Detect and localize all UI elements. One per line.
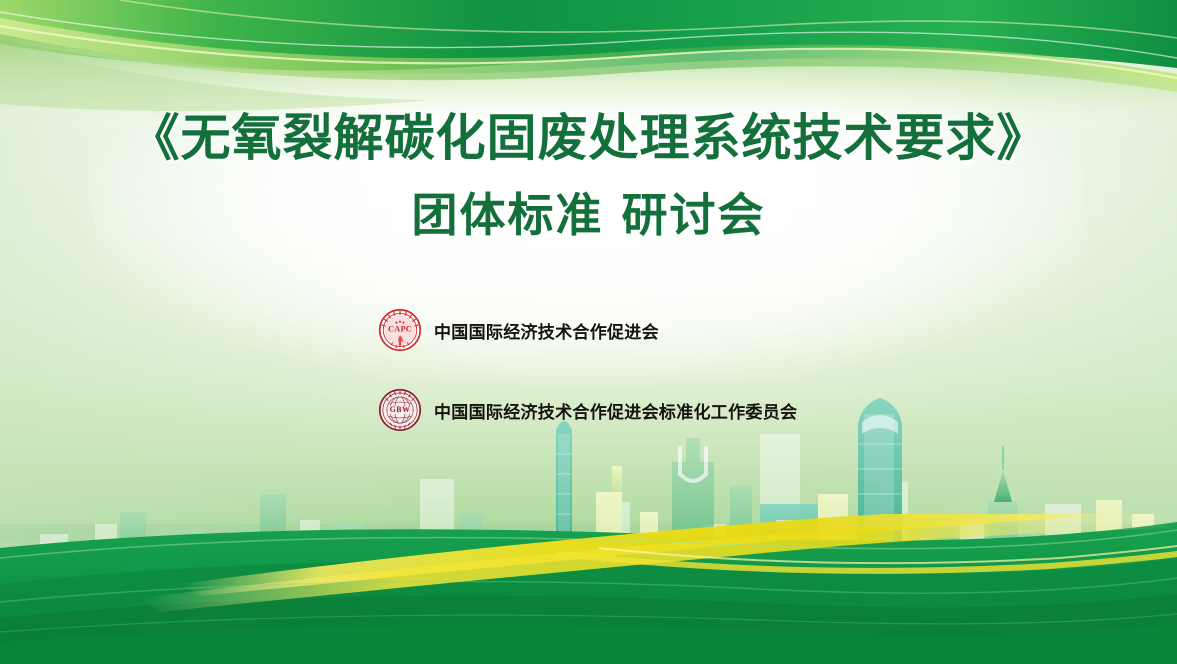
organization-row-gbw: GBW 中国国际经济技术合作促进会标准化工作委员会 — [378, 386, 797, 434]
title-block: 《无氧裂解碳化固废处理系统技术要求》 团体标准 研讨会 — [0, 108, 1177, 243]
gbw-seal-logo: GBW — [378, 388, 422, 432]
svg-text:CAPC: CAPC — [388, 324, 412, 333]
organization-list: CAPC 中国国际经济技术合作促进会 — [378, 306, 797, 434]
bottom-ribbon-decoration — [0, 514, 1177, 664]
organization-name-gbw: 中国国际经济技术合作促进会标准化工作委员会 — [434, 398, 797, 423]
bottom-swoosh-icon — [0, 514, 1177, 664]
capc-seal-logo: CAPC — [378, 308, 422, 352]
organization-row-capc: CAPC 中国国际经济技术合作促进会 — [378, 306, 797, 354]
page-subtitle: 团体标准 研讨会 — [0, 188, 1177, 243]
page-title: 《无氧裂解碳化固废处理系统技术要求》 — [0, 108, 1177, 168]
presentation-slide: 《无氧裂解碳化固废处理系统技术要求》 团体标准 研讨会 — [0, 0, 1177, 664]
organization-name-capc: 中国国际经济技术合作促进会 — [434, 318, 659, 343]
svg-text:GBW: GBW — [390, 405, 411, 414]
